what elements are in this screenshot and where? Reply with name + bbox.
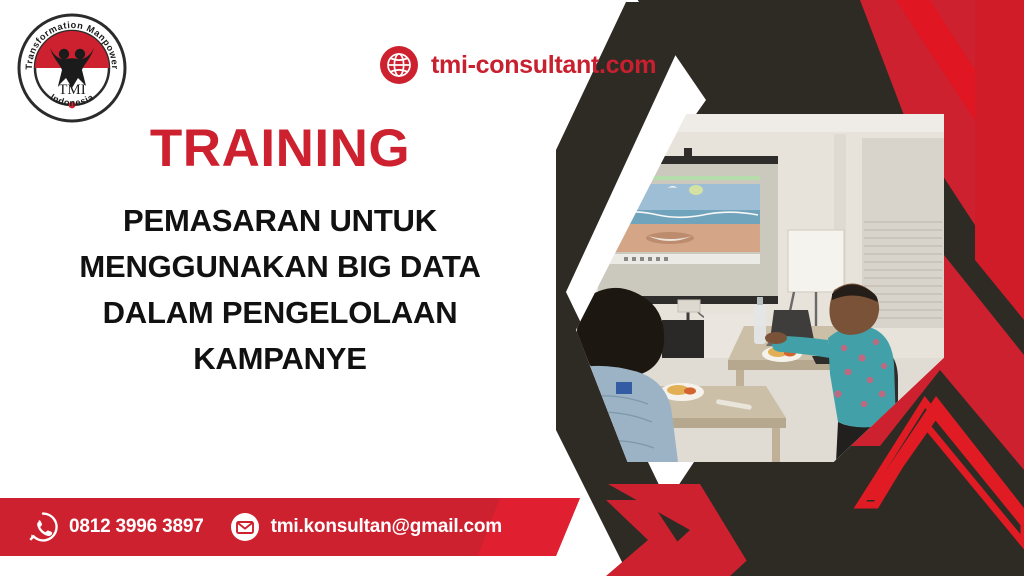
company-logo: TMI Transformation Manpower Indonesia <box>16 12 128 124</box>
whatsapp-icon <box>28 512 58 542</box>
website-row[interactable]: tmi-consultant.com <box>380 46 656 84</box>
phone-number[interactable]: 0812 3996 3897 <box>69 516 204 538</box>
subtitle-line-2: MENGGUNAKAN BIG DATA <box>30 244 530 290</box>
page-subtitle: PEMASARAN UNTUK MENGGUNAKAN BIG DATA DAL… <box>30 198 530 382</box>
website-url[interactable]: tmi-consultant.com <box>431 51 656 80</box>
globe-icon <box>380 46 418 84</box>
contact-bar: 0812 3996 3897 tmi.konsultan@gmail.com <box>0 498 580 556</box>
page-title: TRAINING <box>0 122 560 175</box>
email-address[interactable]: tmi.konsultan@gmail.com <box>271 516 502 538</box>
subtitle-line-1: PEMASARAN UNTUK <box>30 198 530 244</box>
contact-phone[interactable]: 0812 3996 3897 <box>28 512 204 542</box>
contact-email[interactable]: tmi.konsultan@gmail.com <box>230 512 502 542</box>
envelope-icon <box>230 512 260 542</box>
logo-abbr: TMI <box>58 82 86 98</box>
poster-canvas: TMI Transformation Manpower Indonesia tm… <box>0 0 1024 576</box>
subtitle-line-4: KAMPANYE <box>30 336 530 382</box>
subtitle-line-3: DALAM PENGELOLAAN <box>30 290 530 336</box>
